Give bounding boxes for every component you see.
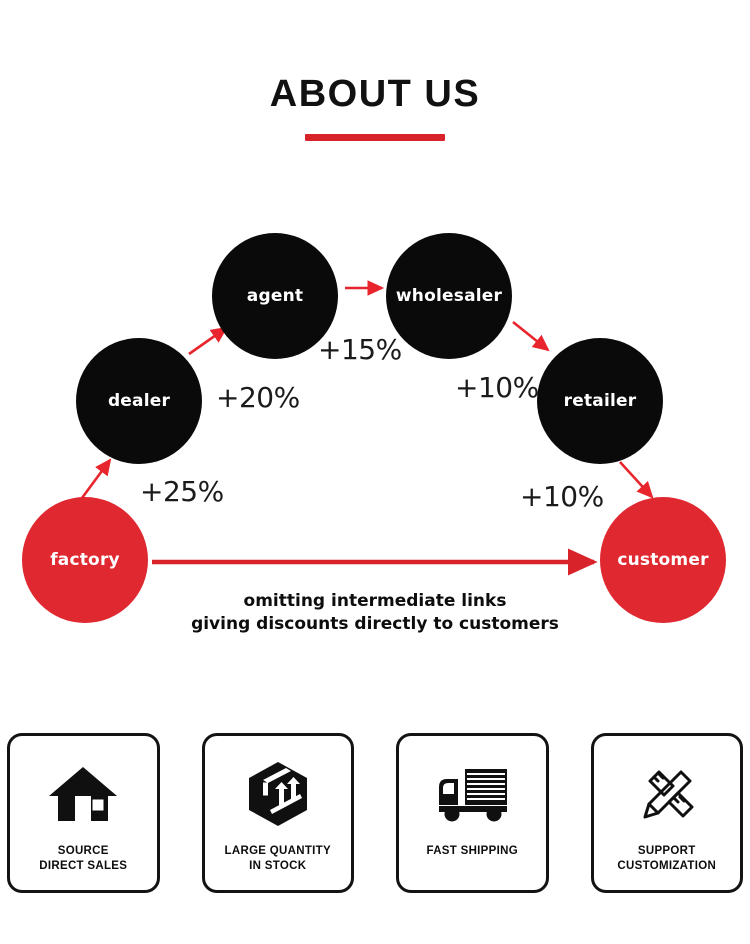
arrow-dealer-to-agent	[189, 328, 226, 354]
bypass-caption: omitting intermediate links giving disco…	[0, 590, 750, 636]
node-factory-label: factory	[50, 550, 120, 570]
node-dealer-label: dealer	[108, 391, 170, 411]
bypass-caption-line-2: giving discounts directly to customers	[0, 613, 750, 636]
node-retailer[interactable]: retailer	[537, 338, 663, 464]
node-wholesaler-label: wholesaler	[396, 286, 502, 306]
markup-wholesaler-to-retailer: +10%	[455, 371, 539, 404]
node-retailer-label: retailer	[564, 391, 637, 411]
feature-card-support-customization[interactable]: SUPPORT CUSTOMIZATION	[591, 733, 744, 893]
markup-factory-to-dealer: +25%	[140, 475, 224, 508]
supply-chain-diagram: factory dealer agent wholesaler retailer…	[0, 0, 750, 700]
arrow-wholesaler-to-retailer	[513, 322, 548, 350]
pencil-ruler-icon	[633, 758, 701, 830]
node-agent-label: agent	[247, 286, 303, 306]
markup-agent-to-wholesaler: +15%	[318, 333, 402, 366]
feature-card-label: SUPPORT CUSTOMIZATION	[617, 844, 716, 874]
feature-card-label: LARGE QUANTITY IN STOCK	[225, 844, 331, 874]
arrow-factory-to-dealer	[82, 460, 110, 498]
feature-card-fast-shipping[interactable]: FAST SHIPPING	[396, 733, 549, 893]
feature-card-large-quantity-in-stock[interactable]: LARGE QUANTITY IN STOCK	[202, 733, 355, 893]
bypass-caption-line-1: omitting intermediate links	[0, 590, 750, 613]
package-box-icon	[244, 758, 312, 830]
node-customer-label: customer	[617, 550, 708, 570]
node-dealer[interactable]: dealer	[76, 338, 202, 464]
markup-dealer-to-agent: +20%	[216, 381, 300, 414]
feature-card-label: FAST SHIPPING	[427, 844, 518, 859]
arrow-retailer-to-customer	[620, 462, 652, 497]
house-icon	[48, 758, 118, 830]
markup-retailer-to-customer: +10%	[520, 480, 604, 513]
feature-card-source-direct-sales[interactable]: SOURCE DIRECT SALES	[7, 733, 160, 893]
delivery-truck-icon	[434, 758, 510, 830]
feature-card-label: SOURCE DIRECT SALES	[39, 844, 127, 874]
node-wholesaler[interactable]: wholesaler	[386, 233, 512, 359]
feature-cards: SOURCE DIRECT SALES LARGE QUANTITY IN ST…	[7, 733, 743, 893]
